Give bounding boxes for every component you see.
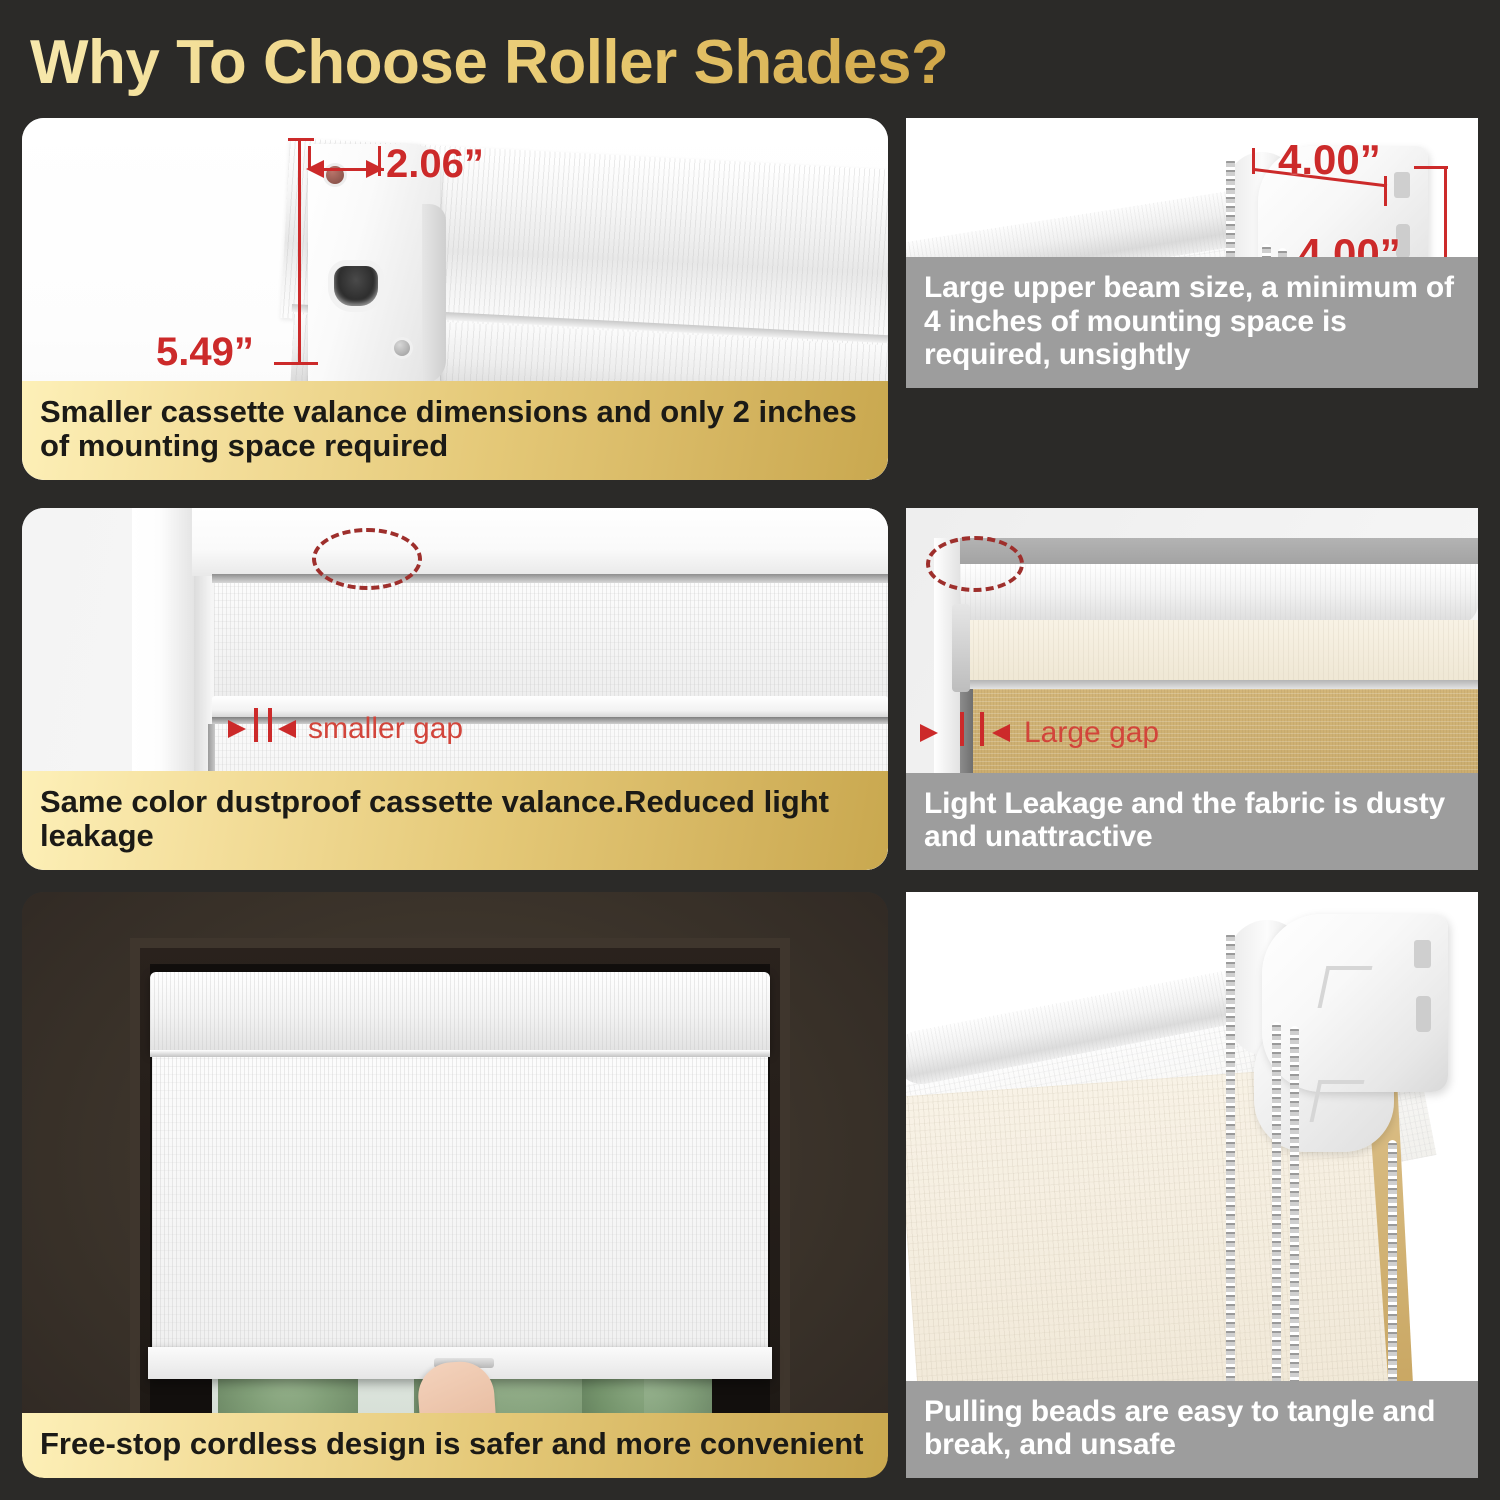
bracket-slot-upper [1414,940,1431,968]
panel-large-gap: Large gap Light Leakage and the fabric i… [906,508,1478,870]
mounting-clip [952,604,970,692]
cassette-top-rail [212,574,888,583]
beam-width-tick-right [1384,176,1387,206]
shade-fabric-upper [214,583,888,699]
panel-1-caption: Smaller cassette valance dimensions and … [22,381,888,480]
dimension-label-height: 5.49” [156,330,254,375]
screw-mid-icon [394,340,410,356]
infographic-root: Why To Choose Roller Shades? 2.06” 5.49” [0,0,1500,1500]
panel-pulling-beads: Pulling beads are easy to tangle and bre… [906,892,1478,1478]
height-dimension-line [298,138,301,364]
roller-tube [960,564,1478,624]
beam-height-tick-top [1414,166,1448,169]
highlight-ellipse-icon [312,528,422,590]
panel-6-caption: Pulling beads are easy to tangle and bre… [906,1381,1478,1478]
gap-arrow-right-icon [920,724,938,742]
width-arrow-left-icon [306,160,324,178]
gap-label-smaller: smaller gap [308,712,463,746]
height-tick-bottom [274,362,318,365]
panel-4-caption: Light Leakage and the fabric is dusty an… [906,773,1478,870]
dimension-label-beam-width: 4.00” [1278,136,1381,184]
gap-tick-right [268,708,272,742]
panel-smaller-cassette: 2.06” 5.49” Smaller cassette valance dim… [22,118,888,480]
shade-cassette-lip [150,1050,770,1057]
gap-arrow-right-icon [228,720,246,738]
bracket-slot-upper [1394,172,1410,198]
gap-label-large: Large gap [1024,716,1159,750]
fabric-seam [962,680,1478,689]
panel-smaller-gap: smaller gap Same color dustproof cassett… [22,508,888,870]
highlight-ellipse-icon [926,536,1024,592]
dimension-label-width: 2.06” [386,142,484,187]
gap-tick-right [980,712,984,746]
gap-tick-left [960,712,964,746]
bracket-emblem-upper-icon [1318,966,1373,1008]
gap-arrow-left-icon [992,724,1010,742]
gap-tick-left [254,708,258,742]
page-title: Why To Choose Roller Shades? [30,24,1230,102]
window-head-casing [192,508,888,576]
gap-arrow-left-icon [278,720,296,738]
shade-fabric [152,1057,768,1355]
panel-large-beam: 4.00” 4.00” Large upper beam size, a min… [906,118,1478,388]
panel-3-caption: Same color dustproof cassette valance.Re… [22,771,888,870]
panel-5-photo [22,892,888,1478]
panel-2-caption: Large upper beam size, a minimum of 4 in… [906,257,1478,388]
height-tick-top [288,138,314,141]
width-arrow-right-icon [366,160,384,178]
end-cap-socket [334,266,378,306]
panel-cordless-design: Free-stop cordless design is safer and m… [22,892,888,1478]
cream-fabric [968,620,1478,682]
bracket-emblem-lower-icon [1310,1080,1365,1122]
bracket-slot-lower [1416,996,1431,1032]
shade-cassette-valance [150,972,770,1052]
panel-5-caption: Free-stop cordless design is safer and m… [22,1413,888,1478]
